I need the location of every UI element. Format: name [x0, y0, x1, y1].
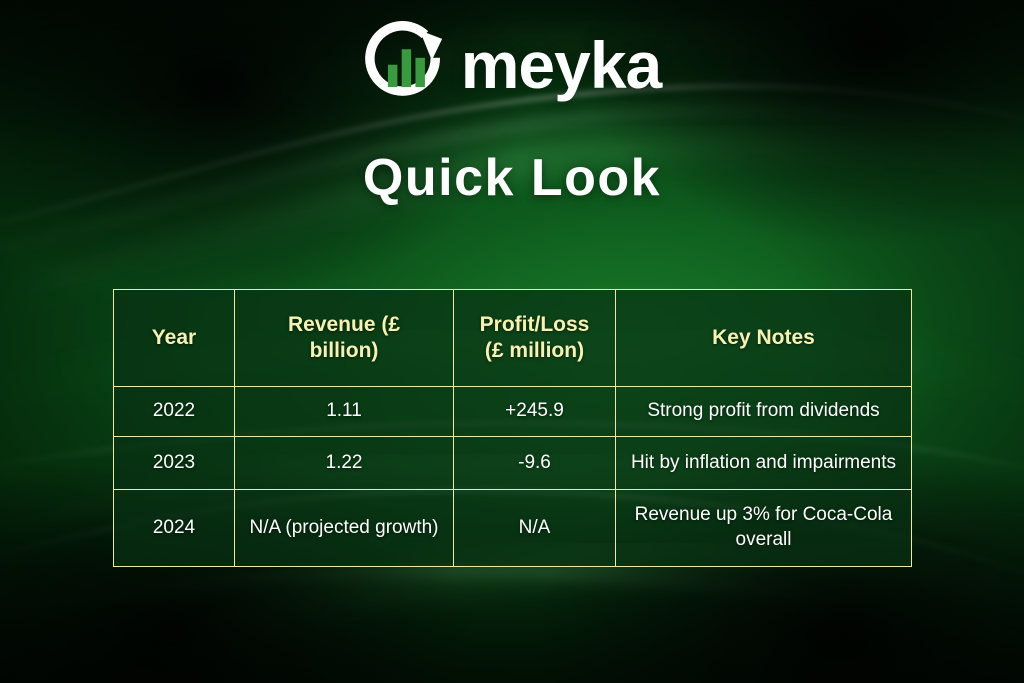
- cell-year: 2023: [114, 437, 235, 490]
- cell-profit-loss: +245.9: [454, 387, 616, 437]
- table-header-row: Year Revenue (£ billion) Profit/Loss (£ …: [114, 290, 912, 387]
- column-header-revenue-line2: billion): [310, 339, 379, 362]
- table-row: 2024 N/A (projected growth) N/A Revenue …: [114, 490, 912, 567]
- cell-revenue: N/A (projected growth): [235, 490, 454, 567]
- column-header-profit-loss-line2: (£ million): [485, 339, 584, 362]
- cell-key-notes: Revenue up 3% for Coca-Cola overall: [616, 490, 912, 567]
- column-header-year-line1: Year: [152, 326, 196, 349]
- table-header: Year Revenue (£ billion) Profit/Loss (£ …: [114, 290, 912, 387]
- quick-look-table: Year Revenue (£ billion) Profit/Loss (£ …: [113, 289, 912, 567]
- column-header-revenue: Revenue (£ billion): [235, 290, 454, 387]
- column-header-key-notes-line1: Key Notes: [712, 326, 815, 349]
- brand-wordmark: meyka: [461, 32, 662, 98]
- table-row: 2023 1.22 -9.6 Hit by inflation and impa…: [114, 437, 912, 490]
- cell-revenue: 1.11: [235, 387, 454, 437]
- column-header-year: Year: [114, 290, 235, 387]
- column-header-profit-loss: Profit/Loss (£ million): [454, 290, 616, 387]
- column-header-key-notes: Key Notes: [616, 290, 912, 387]
- circular-arrow-bar-chart-icon: [363, 20, 449, 106]
- table-row: 2022 1.11 +245.9 Strong profit from divi…: [114, 387, 912, 437]
- cell-key-notes: Hit by inflation and impairments: [616, 437, 912, 490]
- cell-key-notes: Strong profit from dividends: [616, 387, 912, 437]
- cell-revenue: 1.22: [235, 437, 454, 490]
- cell-year: 2022: [114, 387, 235, 437]
- cell-profit-loss: -9.6: [454, 437, 616, 490]
- cell-year: 2024: [114, 490, 235, 567]
- quick-look-table-container: Year Revenue (£ billion) Profit/Loss (£ …: [113, 289, 911, 567]
- slide-canvas: meyka Quick Look Year Revenue (£ billion…: [0, 0, 1024, 683]
- cell-profit-loss: N/A: [454, 490, 616, 567]
- table-body: 2022 1.11 +245.9 Strong profit from divi…: [114, 387, 912, 567]
- column-header-revenue-line1: Revenue (£: [288, 313, 400, 336]
- column-header-profit-loss-line1: Profit/Loss: [480, 313, 590, 336]
- page-title: Quick Look: [0, 148, 1024, 208]
- brand-logo: meyka: [0, 16, 1024, 108]
